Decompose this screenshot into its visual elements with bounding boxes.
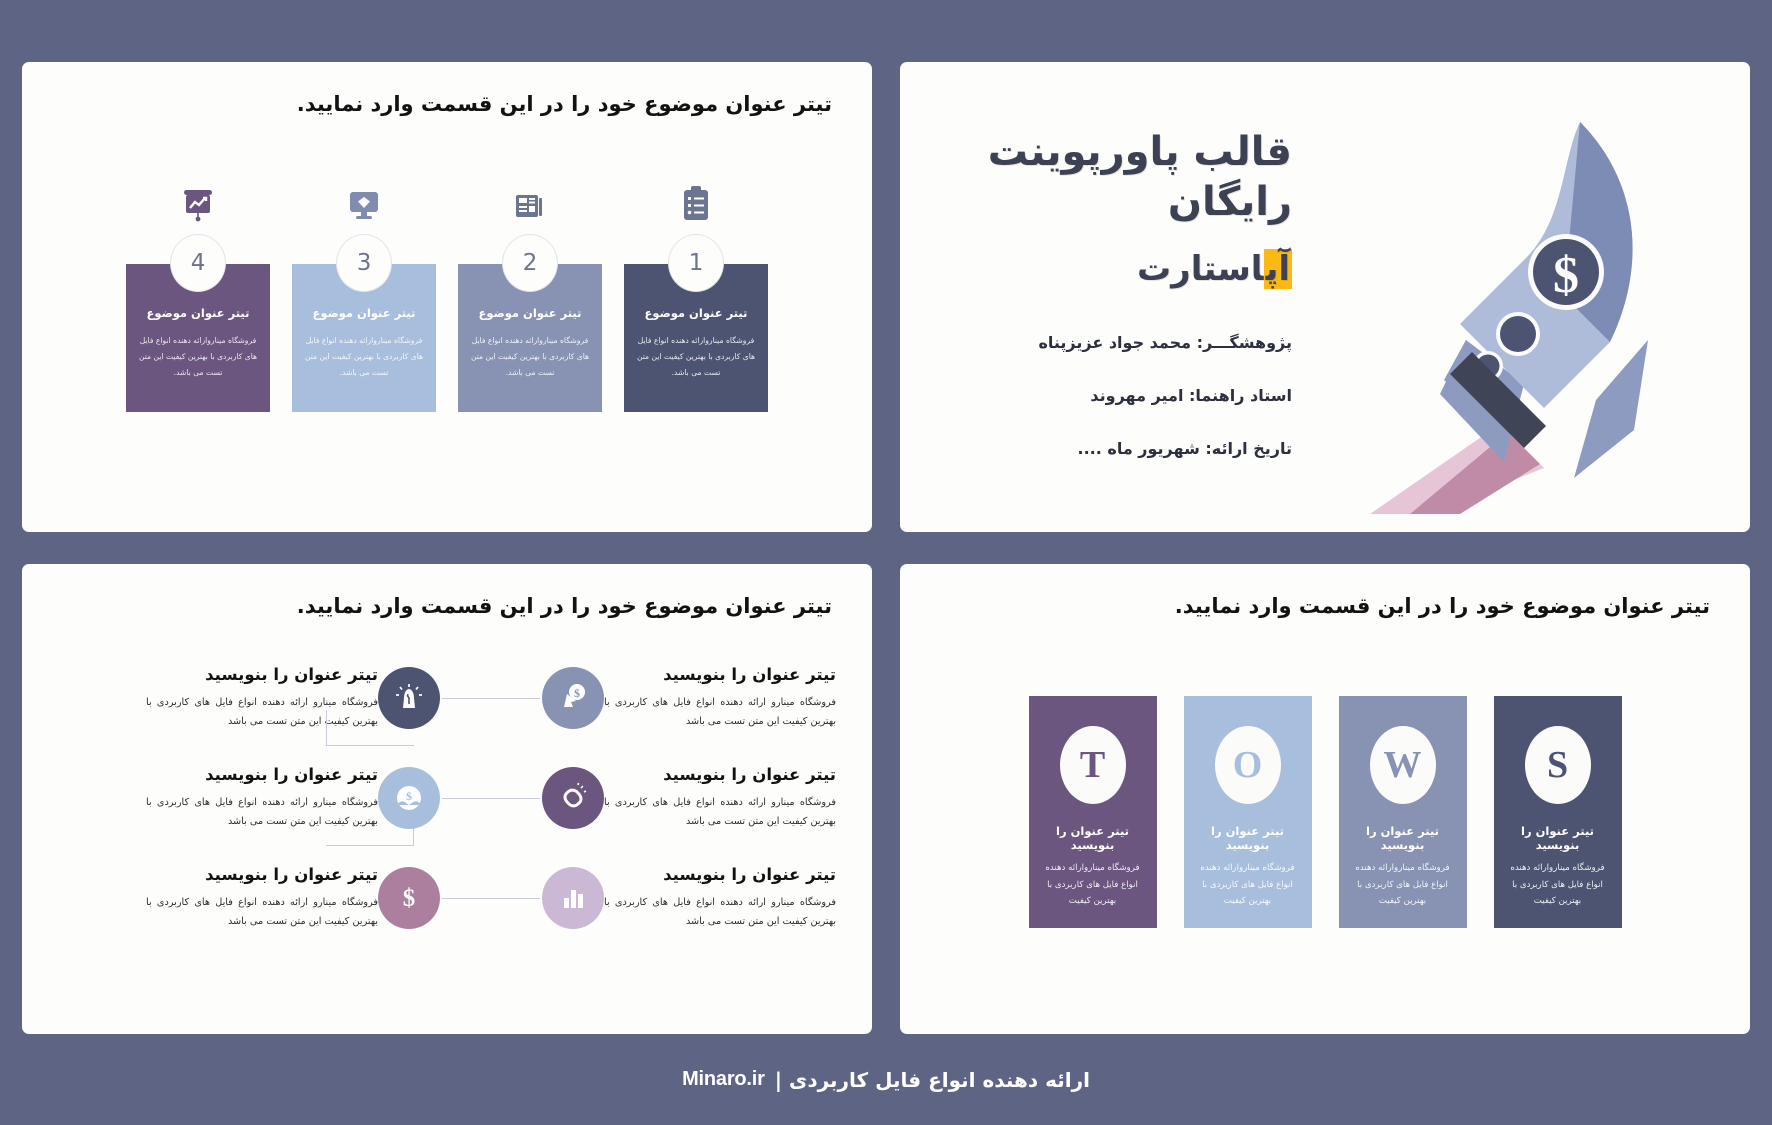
flow-diagram: تیتر عنوان را بنویسید فروشگاه مینارو ارا… [22, 648, 872, 948]
flow-description: فروشگاه مینارو ارائه دهنده انواع فایل ها… [604, 793, 836, 832]
newspaper-icon [514, 174, 546, 222]
swot-letter: O [1233, 743, 1263, 787]
flow-description: فروشگاه مینارو ارائه دهنده انواع فایل ها… [604, 693, 836, 732]
rocket-dollar-illustration: $ [1348, 94, 1748, 514]
swot-item-w[interactable]: W تیتر عنوان را بنویسید فروشگاه میناروار… [1339, 696, 1467, 928]
flow-title: تیتر عنوان را بنویسید [604, 665, 836, 684]
dollar-sign-icon[interactable]: $ [378, 867, 440, 929]
svg-text:$: $ [406, 789, 412, 803]
flow-text-right-3: تیتر عنوان را بنویسید فروشگاه مینارو ارا… [604, 865, 836, 932]
card-title: تیتر عنوان موضوع [304, 306, 424, 320]
swot-letter-circle: W [1370, 726, 1436, 804]
swot-letter: T [1080, 743, 1105, 787]
coin-click-cursor-icon[interactable]: $ [542, 667, 604, 729]
flow-mid-3: $ [378, 867, 604, 929]
card-description: فروشگاه میناروارائه دهنده انواع فایل های… [138, 333, 258, 381]
subtitle-plain: استارت [1137, 249, 1264, 289]
card-title: تیتر عنوان موضوع [470, 306, 590, 320]
presentation-date-line: تاریخ ارائه: شهریور ماه .... [900, 439, 1292, 458]
supervisor-line: استاد راهنما: امیر مهروند [900, 386, 1292, 405]
swot-description: فروشگاه میناروارائه دهنده انواع فایل های… [1042, 860, 1144, 910]
card-number-badge: 2 [502, 234, 558, 292]
swot-title: تیتر عنوان را بنویسید [1197, 824, 1299, 852]
flow-description: فروشگاه مینارو ارائه دهنده انواع فایل ها… [604, 893, 836, 932]
numbered-card-2[interactable]: 2 تیتر عنوان موضوع فروشگاه میناروارائه د… [458, 174, 602, 412]
footer-text: ارائه دهنده انواع فایل کاربردی | [775, 1068, 1090, 1092]
swot-letter-circle: S [1525, 726, 1591, 804]
flow-title: تیتر عنوان را بنویسید [604, 765, 836, 784]
swot-text: تیتر عنوان را بنویسید فروشگاه میناروارائ… [1352, 824, 1454, 910]
handshake-dollar-icon[interactable]: $ [378, 767, 440, 829]
flow-title: تیتر عنوان را بنویسید [146, 765, 378, 784]
card-number-badge: 3 [336, 234, 392, 292]
flow-row-2: تیتر عنوان را بنویسید فروشگاه مینارو ارا… [58, 748, 836, 848]
bar-chart-icon[interactable] [542, 867, 604, 929]
svg-text:$: $ [1553, 247, 1579, 304]
card-title: تیتر عنوان موضوع [636, 306, 756, 320]
subtitle-row: آپاستارت [900, 249, 1292, 289]
flow-row-1: تیتر عنوان را بنویسید فروشگاه مینارو ارا… [58, 648, 836, 748]
flow-connector-horizontal [442, 798, 540, 799]
card-number-badge: 4 [170, 234, 226, 292]
presentation-chart-icon [181, 174, 215, 222]
numbered-cards-row: 1 تیتر عنوان موضوع فروشگاه میناروارائه د… [22, 174, 872, 412]
flow-text-right-2: تیتر عنوان را بنویسید فروشگاه مینارو ارا… [604, 765, 836, 832]
flow-title: تیتر عنوان را بنویسید [146, 665, 378, 684]
clipboard-checklist-icon [681, 174, 711, 222]
swot-letter-circle: O [1215, 726, 1281, 804]
card-description: فروشگاه میناروارائه دهنده انواع فایل های… [636, 333, 756, 381]
swot-title: تیتر عنوان را بنویسید [1352, 824, 1454, 852]
swot-description: فروشگاه میناروارائه دهنده انواع فایل های… [1352, 860, 1454, 910]
slide-swot[interactable]: تیتر عنوان موضوع خود را در این قسمت وارد… [900, 564, 1750, 1034]
swot-description: فروشگاه میناروارائه دهنده انواع فایل های… [1507, 860, 1609, 910]
rocket-illustration-wrap: $ [1340, 62, 1750, 532]
swot-letter: S [1547, 743, 1568, 787]
slides-grid: $ قالب پاورپوینت رایگان آپاستارت پژوهشگـ… [48, 62, 1724, 1034]
flow-mid-2: $ [378, 767, 604, 829]
flow-text-right-1: تیتر عنوان را بنویسید فروشگاه مینارو ارا… [604, 665, 836, 732]
svg-text:$: $ [403, 885, 416, 912]
footer: ارائه دهنده انواع فایل کاربردی | Minaro.… [48, 1034, 1724, 1125]
numbered-card-1[interactable]: 1 تیتر عنوان موضوع فروشگاه میناروارائه د… [624, 174, 768, 412]
card-description: فروشگاه میناروارائه دهنده انواع فایل های… [304, 333, 424, 381]
flow-description: فروشگاه مینارو ارائه دهنده انواع فایل ها… [146, 893, 378, 932]
slide-heading: تیتر عنوان موضوع خود را در این قسمت وارد… [900, 564, 1750, 618]
card-title: تیتر عنوان موضوع [138, 306, 258, 320]
swot-description: فروشگاه میناروارائه دهنده انواع فایل های… [1197, 860, 1299, 910]
slide-numbered-cards[interactable]: تیتر عنوان موضوع خود را در این قسمت وارد… [22, 62, 872, 532]
title-column: قالب پاورپوینت رایگان آپاستارت پژوهشگـــ… [900, 62, 1340, 532]
swot-title: تیتر عنوان را بنویسید [1507, 824, 1609, 852]
numbered-card-3[interactable]: 3 تیتر عنوان موضوع فروشگاه میناروارائه د… [292, 174, 436, 412]
slide-flow[interactable]: تیتر عنوان موضوع خود را در این قسمت وارد… [22, 564, 872, 1034]
card-number-badge: 1 [668, 234, 724, 292]
swot-item-s[interactable]: S تیتر عنوان را بنویسید فروشگاه میناروار… [1494, 696, 1622, 928]
swot-row: S تیتر عنوان را بنویسید فروشگاه میناروار… [900, 696, 1750, 928]
swot-text: تیتر عنوان را بنویسید فروشگاه میناروارائ… [1507, 824, 1609, 910]
presentation-preview-page: $ قالب پاورپوینت رایگان آپاستارت پژوهشگـ… [0, 0, 1772, 1125]
swot-item-o[interactable]: O تیتر عنوان را بنویسید فروشگاه میناروار… [1184, 696, 1312, 928]
flow-title: تیتر عنوان را بنویسید [146, 865, 378, 884]
card-description: فروشگاه میناروارائه دهنده انواع فایل های… [470, 333, 590, 381]
flow-mid-1: $ [378, 667, 604, 729]
swot-text: تیتر عنوان را بنویسید فروشگاه میناروارائ… [1197, 824, 1299, 910]
svg-text:$: $ [574, 686, 580, 700]
subtitle-highlight: آپ [1264, 249, 1292, 289]
flow-text-left-3: تیتر عنوان را بنویسید فروشگاه مینارو ارا… [146, 865, 378, 932]
slide-heading: تیتر عنوان موضوع خود را در این قسمت وارد… [22, 62, 872, 116]
slide-heading: تیتر عنوان موضوع خود را در این قسمت وارد… [22, 564, 872, 618]
flow-title: تیتر عنوان را بنویسید [604, 865, 836, 884]
main-title: قالب پاورپوینت رایگان [900, 127, 1292, 227]
monitor-diamond-icon [347, 174, 381, 222]
flow-row-3: تیتر عنوان را بنویسید فروشگاه مینارو ارا… [58, 848, 836, 948]
broken-chain-link-icon[interactable] [542, 767, 604, 829]
swot-text: تیتر عنوان را بنویسید فروشگاه میناروارائ… [1042, 824, 1144, 910]
lightbulb-idea-hand-icon[interactable] [378, 667, 440, 729]
flow-connector-horizontal [442, 898, 540, 899]
flow-connector-horizontal [442, 698, 540, 699]
slide-title[interactable]: $ قالب پاورپوینت رایگان آپاستارت پژوهشگـ… [900, 62, 1750, 532]
swot-item-t[interactable]: T تیتر عنوان را بنویسید فروشگاه میناروار… [1029, 696, 1157, 928]
swot-letter-circle: T [1060, 726, 1126, 804]
footer-brand[interactable]: Minaro.ir [682, 1068, 765, 1091]
swot-letter: W [1384, 743, 1422, 787]
swot-title: تیتر عنوان را بنویسید [1042, 824, 1144, 852]
researcher-line: پژوهشگـــر: محمد جواد عزیزپناه [900, 333, 1292, 352]
numbered-card-4[interactable]: 4 تیتر عنوان موضوع فروشگاه میناروارائه د… [126, 174, 270, 412]
